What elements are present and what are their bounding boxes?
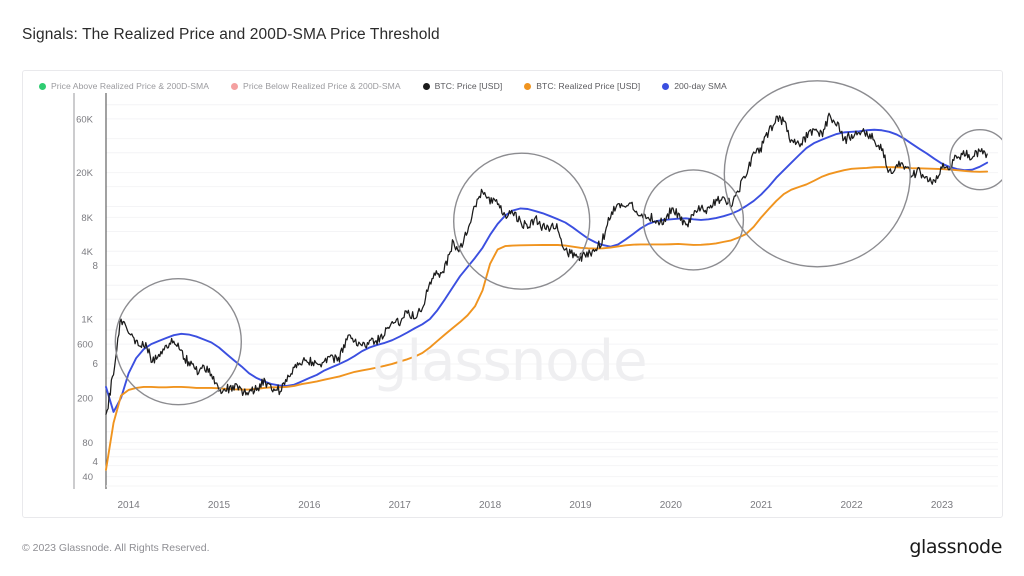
series-realized-price [106, 167, 987, 470]
y2-axis-tick-label: 8 [93, 261, 99, 272]
x-axis-tick-label: 2016 [298, 500, 321, 511]
plot-area: 40802006001K4K8K20K60K468201420152016201… [23, 71, 1002, 517]
footer-logo: glassnode [909, 536, 1002, 558]
x-axis-tick-label: 2014 [117, 500, 140, 511]
annotation-circle-1 [454, 153, 590, 289]
x-axis-tick-label: 2017 [389, 500, 412, 511]
price-chart-svg: 40802006001K4K8K20K60K468201420152016201… [23, 71, 1003, 518]
y-axis-tick-label: 80 [82, 438, 93, 449]
x-axis-tick-label: 2023 [931, 500, 954, 511]
y-axis-tick-label: 20K [76, 168, 94, 179]
series-200day-sma [106, 130, 987, 412]
y-axis-tick-label: 8K [81, 213, 93, 224]
annotation-circle-3 [724, 81, 910, 267]
y-axis-tick-label: 1K [81, 315, 93, 326]
x-axis-tick-label: 2021 [750, 500, 773, 511]
chart-card: Price Above Realized Price & 200D-SMAPri… [22, 70, 1003, 518]
x-axis-tick-label: 2020 [660, 500, 683, 511]
y2-axis-tick-label: 4 [93, 457, 99, 468]
x-axis-tick-label: 2018 [479, 500, 502, 511]
page-title: Signals: The Realized Price and 200D-SMA… [22, 26, 440, 44]
y-axis-tick-label: 4K [81, 247, 93, 258]
y-axis-tick-label: 200 [77, 393, 93, 404]
y2-axis-tick-label: 6 [93, 359, 99, 370]
footer-copyright: © 2023 Glassnode. All Rights Reserved. [22, 542, 210, 554]
x-axis-tick-label: 2019 [569, 500, 592, 511]
y-axis-tick-label: 40 [82, 472, 93, 483]
x-axis-tick-label: 2022 [840, 500, 863, 511]
y-axis-tick-label: 60K [76, 114, 94, 125]
x-axis-tick-label: 2015 [208, 500, 231, 511]
y-axis-tick-label: 600 [77, 340, 93, 351]
